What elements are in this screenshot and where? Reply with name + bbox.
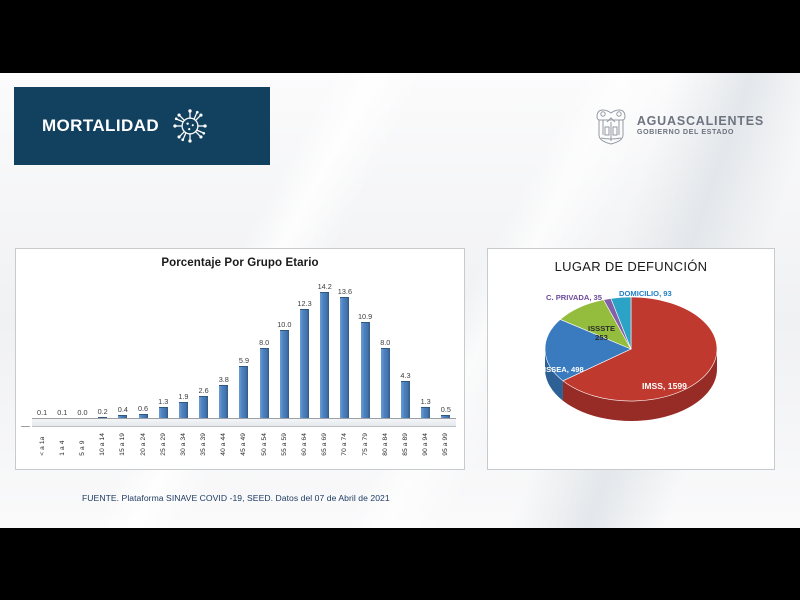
bar-value-label: 13.6 [338,287,352,296]
bar-value-label: 10.0 [277,320,291,329]
x-axis-baseline [32,418,456,427]
bar-item: 1.3 [416,277,436,427]
x-axis-tick-label: 50 a 54 [254,433,274,456]
source-note: FUENTE. Plataforma SINAVE COVID -19, SEE… [82,493,390,503]
x-axis-tick-label: < a 1a [32,433,52,456]
bar [340,297,349,420]
logo-line-1: AGUASCALIENTES [637,114,764,128]
pie-label-domicilio: DOMICILIO, 93 [619,289,672,298]
bar [401,381,410,420]
bar-item: 2.6 [194,277,214,427]
bar-value-label: 0.6 [138,404,148,413]
bar-value-label: 12.3 [297,299,311,308]
pie-chart-plot-area: C. PRIVADA, 35 DOMICILIO, 93 ISSSTE 253 … [488,279,774,467]
bar-item: 1.3 [153,277,173,427]
bar [361,322,370,420]
bar-value-label: 1.9 [178,392,188,401]
bar-item: 10.9 [355,277,375,427]
logo-line-2: GOBIERNO DEL ESTADO [637,128,764,136]
bar-value-label: 4.3 [400,371,410,380]
bar-chart-panel: Porcentaje Por Grupo Etario 0.10.10.00.2… [15,248,465,470]
bar-value-label: 0.2 [98,407,108,416]
page-title: MORTALIDAD [42,116,159,136]
bar-item: 0.6 [133,277,153,427]
bar-value-label: 3.8 [219,375,229,384]
bar [239,366,248,420]
bar-chart-title: Porcentaje Por Grupo Etario [16,257,464,269]
x-axis-tick-label: 20 a 24 [133,433,153,456]
bar-value-label: 8.0 [259,338,269,347]
bar [320,292,329,420]
bar-value-label: 8.0 [380,338,390,347]
bar-value-label: 0.0 [77,408,87,417]
pie-chart-graphic [503,279,759,439]
bar-item: 0.1 [32,277,52,427]
presentation-slide: MORTALIDAD [0,73,800,528]
bar-value-label: 10.9 [358,312,372,321]
bar [199,396,208,420]
bar-item: 13.6 [335,277,355,427]
x-axis-tick-labels: < a 1a1 a 45 a 910 a 1415 a 1920 a 2425 … [32,433,456,456]
bar [300,309,309,420]
bar-value-label: 1.3 [421,397,431,406]
x-axis-tick-label: 30 a 34 [173,433,193,456]
bar-item: 4.3 [395,277,415,427]
bar [381,348,390,421]
x-axis-tick-label: 35 a 39 [194,433,214,456]
bar-item: 1.9 [173,277,193,427]
bar [260,348,269,421]
bar-item: 12.3 [294,277,314,427]
bar-item: 3.8 [214,277,234,427]
pie-label-issste-line2: 253 [588,334,615,343]
bar-item: 8.0 [375,277,395,427]
bar-item: 0.4 [113,277,133,427]
bar-chart-plot-area: 0.10.10.00.20.40.61.31.92.63.85.98.010.0… [32,277,456,427]
bar-item: 8.0 [254,277,274,427]
bar-value-label: 2.6 [199,386,209,395]
bar-value-label: 0.5 [441,405,451,414]
bar-value-label: 0.1 [37,408,47,417]
x-axis-tick-label: 10 a 14 [93,433,113,456]
bar-value-label: 0.1 [57,408,67,417]
coronavirus-icon [171,107,209,145]
pie-label-issste: ISSSTE 253 [588,325,615,342]
x-axis-tick-label: 80 a 84 [375,433,395,456]
bar-item: 0.1 [52,277,72,427]
x-axis-tick-label: 85 a 89 [395,433,415,456]
bar-value-label: 5.9 [239,356,249,365]
x-axis-tick-label: 25 a 29 [153,433,173,456]
pie-label-issea: ISSEA, 498 [544,365,584,374]
x-axis-tick-label: 90 a 94 [416,433,436,456]
bar-series: 0.10.10.00.20.40.61.31.92.63.85.98.010.0… [32,277,456,427]
x-axis-tick-label: 70 a 74 [335,433,355,456]
bar-item: 0.2 [93,277,113,427]
slide-viewer: MORTALIDAD [0,0,800,600]
bar-value-label: 14.2 [318,282,332,291]
x-axis-tick-label: 15 a 19 [113,433,133,456]
bar-value-label: 0.4 [118,405,128,414]
pie-chart-title: LUGAR DE DEFUNCIÓN [488,259,774,274]
x-axis-tick-label: 75 a 79 [355,433,375,456]
bar-value-label: 1.3 [158,397,168,406]
x-axis-tick-label: 55 a 59 [274,433,294,456]
pie-chart-panel: LUGAR DE DEFUNCIÓN C. PRIVADA, 35 [487,248,775,470]
bar-item: 10.0 [274,277,294,427]
bar-item: 0.0 [72,277,92,427]
logo-wordmark: AGUASCALIENTES GOBIERNO DEL ESTADO [637,114,764,136]
bar-item: 14.2 [315,277,335,427]
bar-item: 0.5 [436,277,456,427]
government-logo: AGUASCALIENTES GOBIERNO DEL ESTADO [594,105,764,145]
x-axis-tick-label: 65 a 69 [315,433,335,456]
x-axis-tick-label: 1 a 4 [52,433,72,456]
x-axis-tick-label: 5 a 9 [72,433,92,456]
mortalidad-header-banner: MORTALIDAD [14,87,270,165]
x-axis-tick-label: 60 a 64 [294,433,314,456]
pie-label-c-privada: C. PRIVADA, 35 [546,293,602,302]
bar [219,385,228,420]
pie-label-imss: IMSS, 1599 [642,381,687,391]
bar [280,330,289,420]
x-axis-tick-label: 95 a 99 [436,433,456,456]
aguascalientes-coat-of-arms-icon [594,105,628,145]
x-axis-tick-label: 45 a 49 [234,433,254,456]
bar-item: 5.9 [234,277,254,427]
x-axis-tick-label: 40 a 44 [214,433,234,456]
